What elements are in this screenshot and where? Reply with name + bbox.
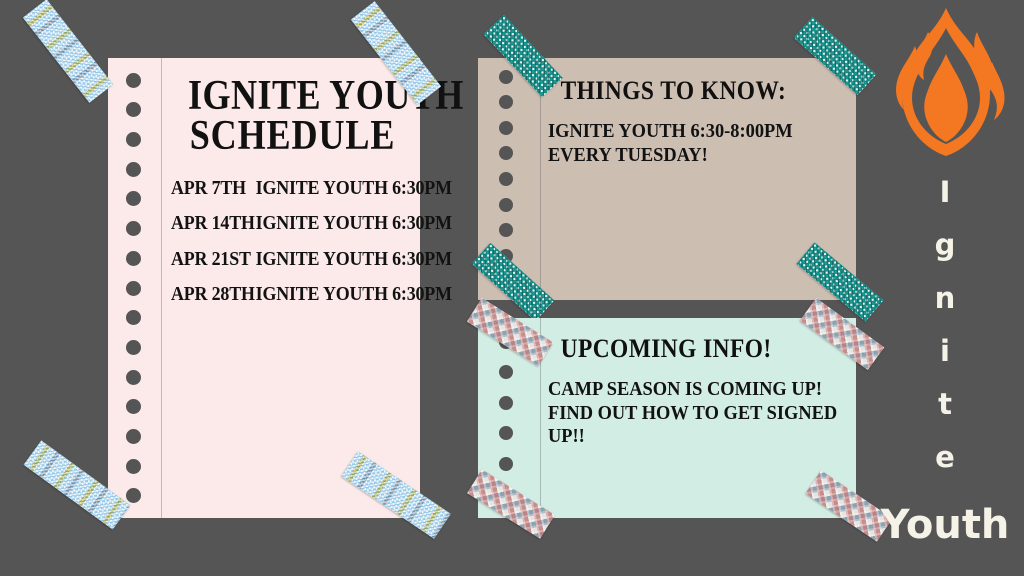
brand-ignite-letter: n xyxy=(866,272,1024,325)
brand-ignite-letter: I xyxy=(866,166,1024,219)
hole-punch xyxy=(126,459,141,474)
hole-punch xyxy=(499,198,513,212)
note-body-line: EVERY TUESDAY! xyxy=(548,144,822,168)
schedule-row: APR 14THIGNITE YOUTH 6:30PM xyxy=(171,214,395,234)
hole-punch xyxy=(126,340,141,355)
schedule-card-content: IGNITE YOUTH SCHEDULE APR 7THIGNITE YOUT… xyxy=(161,58,420,518)
schedule-row-date: APR 21ST xyxy=(171,250,256,270)
upcoming-info-heading: UPCOMING INFO! xyxy=(548,336,816,362)
things-to-know-body: IGNITE YOUTH 6:30-8:00PMEVERY TUESDAY! xyxy=(548,120,822,167)
schedule-row-time: 6:30PM xyxy=(392,284,452,305)
tape-chevron-top-left xyxy=(23,0,113,103)
hole-punch xyxy=(126,429,141,444)
poster-canvas: IGNITE YOUTH SCHEDULE APR 7THIGNITE YOUT… xyxy=(0,0,1024,576)
schedule-card: IGNITE YOUTH SCHEDULE APR 7THIGNITE YOUT… xyxy=(108,58,420,518)
hole-punch xyxy=(126,488,141,503)
brand-column: Ignite Youth xyxy=(866,0,1024,576)
schedule-list: APR 7THIGNITE YOUTH 6:30PMAPR 14THIGNITE… xyxy=(171,179,414,305)
hole-punch xyxy=(499,146,513,160)
hole-punch-column xyxy=(108,58,158,518)
page-title: IGNITE YOUTH SCHEDULE xyxy=(188,76,397,157)
upcoming-info-body: CAMP SEASON IS COMING UP!FIND OUT HOW TO… xyxy=(548,378,822,449)
brand-ignite-letter: g xyxy=(866,219,1024,272)
hole-punch xyxy=(126,370,141,385)
hole-punch xyxy=(126,132,141,147)
schedule-row-time: 6:30PM xyxy=(392,213,452,234)
brand-ignite-letter: t xyxy=(866,378,1024,431)
hole-punch xyxy=(499,426,513,440)
hole-punch xyxy=(126,251,141,266)
hole-punch xyxy=(499,396,513,410)
hole-punch xyxy=(499,365,513,379)
note-body-line: IGNITE YOUTH 6:30-8:00PM xyxy=(548,120,822,144)
schedule-row-time: 6:30PM xyxy=(392,249,452,270)
brand-ignite-letter: e xyxy=(866,431,1024,484)
schedule-row: APR 7THIGNITE YOUTH 6:30PM xyxy=(171,179,395,199)
hole-punch xyxy=(499,172,513,186)
schedule-row-date: APR 7TH xyxy=(171,179,256,199)
schedule-row-event: IGNITE YOUTH xyxy=(256,284,393,305)
schedule-row-event: IGNITE YOUTH xyxy=(256,178,393,199)
hole-punch xyxy=(499,457,513,471)
hole-punch xyxy=(499,223,513,237)
hole-punch xyxy=(126,221,141,236)
schedule-row-date: APR 14TH xyxy=(171,214,256,234)
hole-punch xyxy=(126,399,141,414)
note-body-line: FIND OUT HOW TO GET SIGNED xyxy=(548,402,822,426)
schedule-row: APR 28THIGNITE YOUTH 6:30PM xyxy=(171,285,395,305)
hole-punch xyxy=(126,281,141,296)
schedule-row-event: IGNITE YOUTH xyxy=(256,213,393,234)
hole-punch xyxy=(126,191,141,206)
brand-youth-label: Youth xyxy=(866,505,1024,545)
brand-ignite-letter: i xyxy=(866,325,1024,378)
note-body-line: UP!! xyxy=(548,425,822,449)
note-body-line: CAMP SEASON IS COMING UP! xyxy=(548,378,822,402)
hole-punch xyxy=(126,73,141,88)
hole-punch xyxy=(499,121,513,135)
hole-punch xyxy=(499,95,513,109)
page-title-line-2: SCHEDULE xyxy=(188,116,397,156)
schedule-row-date: APR 28TH xyxy=(171,285,256,305)
brand-ignite-vertical: Ignite xyxy=(866,166,1024,484)
hole-punch xyxy=(126,310,141,325)
hole-punch xyxy=(126,162,141,177)
things-to-know-heading: THINGS TO KNOW: xyxy=(548,78,816,104)
schedule-row: APR 21STIGNITE YOUTH 6:30PM xyxy=(171,250,395,270)
flame-logo xyxy=(880,6,1012,166)
schedule-row-event: IGNITE YOUTH xyxy=(256,249,393,270)
hole-punch xyxy=(499,70,513,84)
schedule-row-time: 6:30PM xyxy=(392,178,452,199)
page-title-line-1: IGNITE YOUTH xyxy=(188,76,397,116)
hole-punch xyxy=(126,102,141,117)
